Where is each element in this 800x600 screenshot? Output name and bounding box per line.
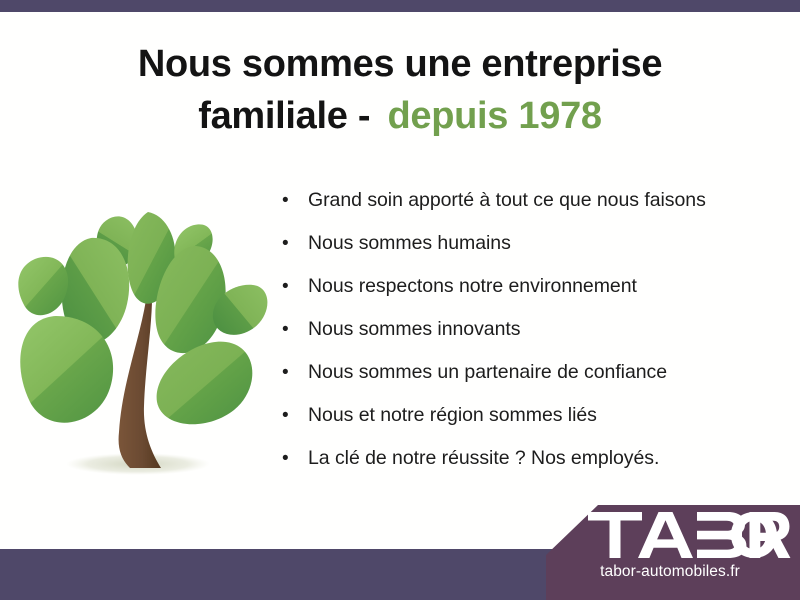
list-item-label: Nous sommes un partenaire de confiance bbox=[308, 363, 667, 383]
list-item-label: Nous respectons notre environnement bbox=[308, 277, 637, 297]
list-item: • Grand soin apporté à tout ce que nous … bbox=[282, 191, 782, 234]
bullet-marker-icon: • bbox=[282, 320, 308, 339]
list-item-label: Grand soin apporté à tout ce que nous fa… bbox=[308, 191, 706, 211]
bullet-marker-icon: • bbox=[282, 363, 308, 382]
list-item: • Nous respectons notre environnement bbox=[282, 277, 782, 320]
list-item: • La clé de notre réussite ? Nos employé… bbox=[282, 449, 782, 492]
brand-wordmark bbox=[588, 512, 793, 558]
list-item: • Nous sommes innovants bbox=[282, 320, 782, 363]
list-item-label: Nous sommes humains bbox=[308, 234, 511, 254]
bullet-marker-icon: • bbox=[282, 277, 308, 296]
list-item-label: Nous et notre région sommes liés bbox=[308, 406, 597, 426]
tree-illustration bbox=[18, 192, 270, 492]
brand-url: tabor-automobiles.fr bbox=[546, 563, 794, 581]
top-accent-band bbox=[0, 0, 800, 12]
bullet-marker-icon: • bbox=[282, 234, 308, 253]
page-title: Nous sommes une entreprise familiale - d… bbox=[0, 38, 800, 143]
bullet-marker-icon: • bbox=[282, 406, 308, 425]
list-item-label: Nous sommes innovants bbox=[308, 320, 520, 340]
bullet-marker-icon: • bbox=[282, 449, 308, 468]
list-item: • Nous et notre région sommes liés bbox=[282, 406, 782, 449]
tree-trunk bbox=[119, 300, 161, 468]
bullet-marker-icon: • bbox=[282, 191, 308, 210]
headline-line-2-plain: familiale - bbox=[198, 95, 380, 137]
benefits-list: • Grand soin apporté à tout ce que nous … bbox=[282, 191, 782, 492]
list-item: • Nous sommes humains bbox=[282, 234, 782, 277]
list-item-label: La clé de notre réussite ? Nos employés. bbox=[308, 449, 659, 469]
headline-line-2-accent: depuis 1978 bbox=[387, 95, 601, 137]
slide-canvas: Nous sommes une entreprise familiale - d… bbox=[0, 0, 800, 600]
headline-line-1: Nous sommes une entreprise bbox=[138, 43, 662, 85]
list-item: • Nous sommes un partenaire de confiance bbox=[282, 363, 782, 406]
